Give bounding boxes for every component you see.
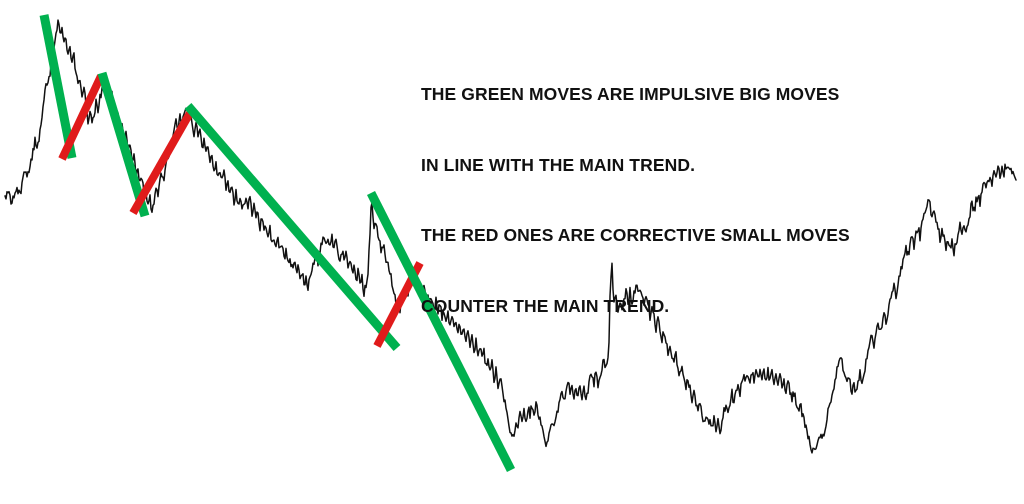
annotation-line-4: COUNTER THE MAIN TREND.	[421, 295, 891, 319]
annotation-line-3: THE RED ONES ARE CORRECTIVE SMALL MOVES	[421, 224, 891, 248]
annotation-textblock: THE GREEN MOVES ARE IMPULSIVE BIG MOVES …	[421, 36, 891, 365]
chart-canvas: THE GREEN MOVES ARE IMPULSIVE BIG MOVES …	[0, 0, 1024, 504]
annotation-line-2: IN LINE WITH THE MAIN TREND.	[421, 154, 891, 178]
annotation-line-1: THE GREEN MOVES ARE IMPULSIVE BIG MOVES	[421, 83, 891, 107]
